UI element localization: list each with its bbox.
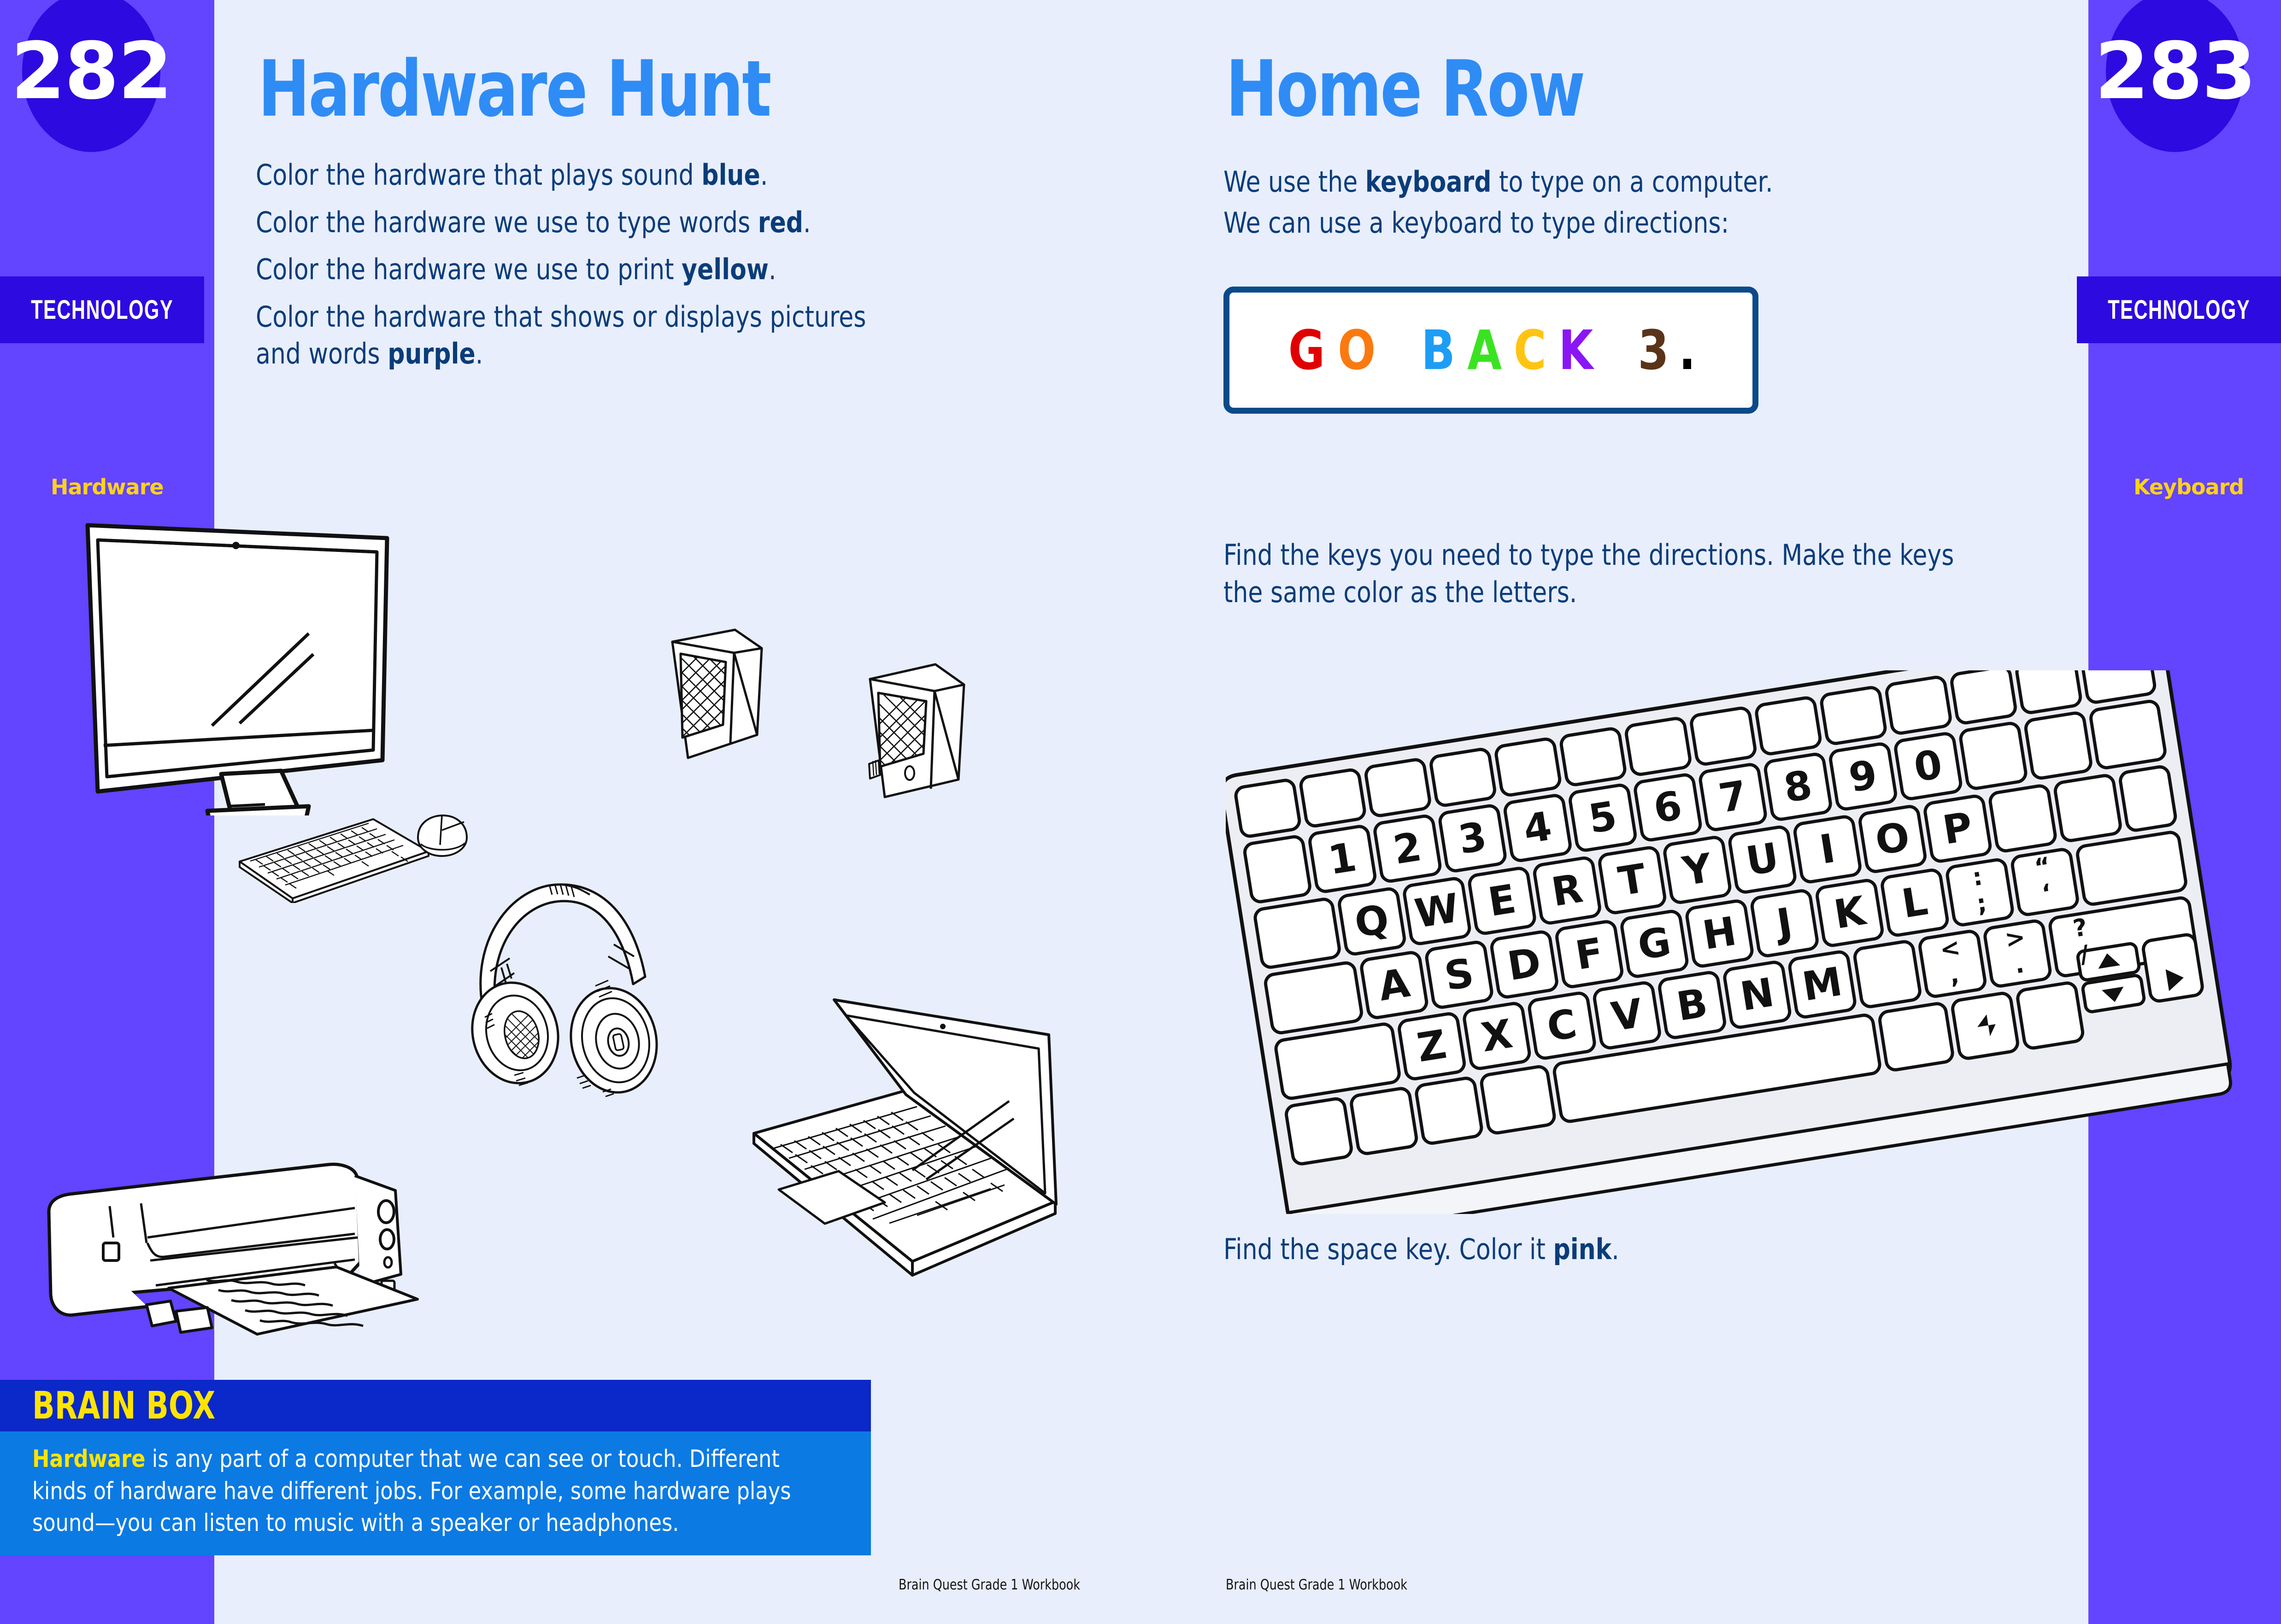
section-tab-left: TECHNOLOGY (0, 276, 204, 343)
direction-char-G: G (1288, 318, 1324, 382)
instruction-period: . (476, 337, 483, 370)
instruction-period: . (769, 252, 776, 286)
find-keys-text: Find the keys you need to type the direc… (1223, 537, 1998, 611)
brain-box-header-label: BRAIN BOX (32, 1384, 215, 1428)
intro-text-right: We use the keyboard to type on a compute… (1223, 164, 1773, 245)
direction-char-C: C (1514, 318, 1546, 382)
instruction-text: Color the hardware that plays sound (256, 158, 701, 192)
computer-mouse-illustration (412, 811, 472, 862)
printer-illustration (32, 1147, 447, 1364)
svg-text:<: < (1938, 933, 1962, 964)
section-tab-right: TECHNOLOGY (2077, 276, 2281, 343)
page-number-left: 282 (11, 26, 172, 117)
speaker-right-illustration (866, 659, 977, 811)
page-title-right: Home Row (1226, 44, 1584, 134)
intro-line: We use the keyboard to type on a compute… (1223, 164, 1773, 201)
home-row-keyboard-illustration: 123 456 789 0 QWE RTY UIO P ASD FGH JKL … (1226, 670, 2258, 1214)
space-key-instruction: Find the space key. Color it pink. (1223, 1231, 1619, 1268)
svg-text:>: > (2003, 923, 2027, 954)
svg-text:W: W (1412, 885, 1462, 938)
footer-left: Brain Quest Grade 1 Workbook (899, 1577, 1080, 1593)
brain-box: BRAIN BOX Hardware is any part of a comp… (0, 1380, 871, 1555)
instruction-color-word: purple (388, 337, 475, 370)
brain-box-keyword: Hardware (32, 1445, 146, 1473)
space-key-period: . (1611, 1232, 1619, 1266)
desktop-keyboard-illustration (235, 815, 433, 903)
instruction-period: . (760, 158, 768, 192)
brain-box-header: BRAIN BOX (0, 1380, 871, 1431)
instruction-item: Color the hardware we use to print yello… (256, 251, 914, 288)
instruction-text: Color the hardware we use to print (256, 252, 682, 286)
instruction-item: Color the hardware we use to type words … (256, 204, 914, 241)
intro-bold-word: keyboard (1365, 165, 1492, 199)
instruction-period: . (803, 205, 811, 239)
desktop-monitor-illustration (69, 516, 484, 815)
space-key-text: Find the space key. Color it (1223, 1232, 1553, 1266)
svg-text:O: O (1872, 814, 1913, 864)
brain-box-text: is any part of a computer that we can se… (32, 1445, 791, 1537)
svg-text:Q: Q (1352, 896, 1392, 947)
direction-char-B: B (1421, 318, 1455, 382)
intro-text: We use the (1223, 165, 1365, 199)
workbook-spread: 282 TECHNOLOGY Hardware Hardware Hunt Co… (0, 0, 2281, 1624)
direction-char-A: A (1467, 318, 1502, 382)
intro-text-tail: to type on a computer. (1491, 165, 1773, 199)
laptop-illustration (594, 972, 1064, 1354)
find-keys-instruction: Find the keys you need to type the direc… (1223, 537, 1998, 616)
space-key-color-word: pink (1553, 1232, 1611, 1266)
direction-char-3: 3 (1638, 318, 1669, 382)
topic-label-left: Hardware (51, 475, 164, 499)
direction-char-O: O (1338, 318, 1376, 382)
instruction-item: Color the hardware that plays sound blue… (256, 157, 914, 194)
instruction-text: Color the hardware that shows or display… (256, 300, 866, 371)
brain-box-body: Hardware is any part of a computer that … (0, 1431, 871, 1555)
instruction-color-word: red (758, 205, 803, 239)
instruction-item: Color the hardware that shows or display… (256, 299, 914, 373)
svg-text:M: M (1799, 959, 1845, 1010)
intro-text: We can use a keyboard to type directions… (1223, 206, 1729, 240)
page-number-right: 283 (2095, 26, 2256, 117)
section-tab-label-right: TECHNOLOGY (2108, 294, 2250, 325)
page-title-left: Hardware Hunt (258, 44, 770, 134)
direction-box: G O B A C K 3 . (1223, 287, 1758, 414)
instruction-text: Color the hardware we use to type words (256, 205, 758, 239)
footer-right: Brain Quest Grade 1 Workbook (1226, 1577, 1407, 1593)
instruction-color-word: blue (701, 158, 760, 192)
instruction-list-left: Color the hardware that plays sound blue… (256, 157, 914, 383)
topic-label-right: Keyboard (2134, 475, 2244, 499)
intro-line: We can use a keyboard to type directions… (1223, 205, 1773, 242)
direction-char-K: K (1558, 318, 1593, 382)
direction-char-period: . (1679, 318, 1696, 382)
speaker-left-illustration (666, 624, 772, 772)
section-tab-label-left: TECHNOLOGY (31, 294, 173, 325)
instruction-color-word: yellow (682, 252, 769, 286)
